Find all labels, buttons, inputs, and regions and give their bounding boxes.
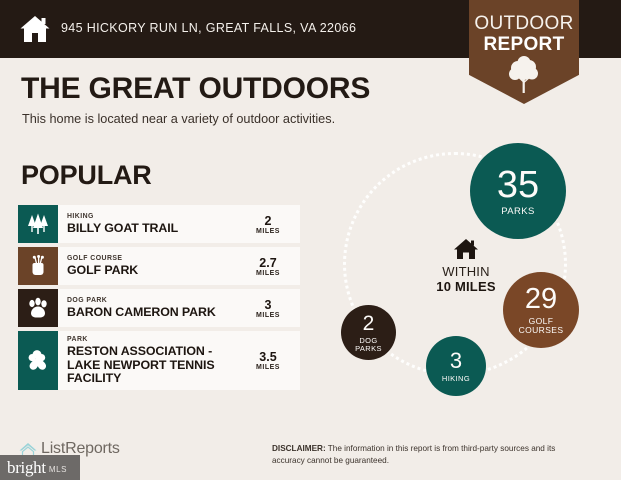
outdoor-report-page: 945 HICKORY RUN LN, GREAT FALLS, VA 2206… [0,0,621,480]
bright-mls-watermark: bright MLS [0,455,80,480]
list-item[interactable]: PARK RESTON ASSOCIATION - LAKE NEWPORT T… [18,331,300,390]
list-item[interactable]: HIKING BILLY GOAT TRAIL 2 MILES [18,205,300,243]
bubble-parks[interactable]: 35 PARKS [470,143,566,239]
badge-line-2: REPORT [469,34,579,56]
list-item[interactable]: GOLF COURSE GOLF PARK 2.7 MILES [18,247,300,285]
outdoor-report-badge: OUTDOOR REPORT [469,0,579,104]
house-icon [453,237,479,261]
bubble-golf-label: GOLF COURSES [519,317,564,335]
list-item[interactable]: DOG PARK BARON CAMERON PARK 3 MILES [18,289,300,327]
popular-places-list: HIKING BILLY GOAT TRAIL 2 MILES [18,205,300,394]
bubble-dog-parks[interactable]: 2 DOG PARKS [341,305,396,360]
list-item-icon-wrap [18,205,58,243]
bubble-dog-label-line2: PARKS [355,345,382,353]
list-item-distance: 2 MILES [240,205,300,243]
bright-mls-main: bright [0,458,46,478]
list-item-distance: 3 MILES [240,289,300,327]
list-item-body: DOG PARK BARON CAMERON PARK [58,289,240,327]
list-item-name: RESTON ASSOCIATION - LAKE NEWPORT TENNIS… [67,345,236,386]
list-item-distance: 3.5 MILES [240,331,300,390]
list-item-distance-unit: MILES [256,364,280,371]
bright-mls-sub: MLS [46,461,67,474]
disclaimer-label: DISCLAIMER: [272,444,326,453]
list-item-icon-wrap [18,247,58,285]
tree-icon [507,56,541,94]
list-item-distance-unit: MILES [256,312,280,319]
bubble-dog-value: 2 [363,313,375,334]
list-item-distance-value: 2.7 [259,256,276,270]
list-item-distance-value: 3.5 [259,350,276,364]
list-item-distance: 2.7 MILES [240,247,300,285]
paw-print-icon [26,297,50,320]
chart-center-line1: WITHIN [416,264,516,279]
chart-center-line2: 10 MILES [416,279,516,294]
bubble-parks-label: PARKS [501,207,535,217]
list-item-icon-wrap [18,289,58,327]
property-address: 945 HICKORY RUN LN, GREAT FALLS, VA 2206… [61,21,356,35]
bubble-hiking-label: HIKING [442,375,470,383]
bubble-hiking-value: 3 [450,350,462,372]
list-item-name: GOLF PARK [67,264,236,278]
trees-icon [26,213,50,235]
list-item-distance-value: 2 [265,214,272,228]
page-subtitle: This home is located near a variety of o… [22,112,335,126]
section-title-popular: POPULAR [21,160,152,191]
bubble-golf-value: 29 [525,285,557,314]
page-title: THE GREAT OUTDOORS [21,72,370,106]
badge-line-1: OUTDOOR [469,13,579,35]
chart-center-label: WITHIN 10 MILES [416,237,516,294]
list-item-icon-wrap [18,331,58,390]
house-icon [19,13,51,45]
list-item-distance-unit: MILES [256,270,280,277]
bubble-hiking[interactable]: 3 HIKING [426,336,486,396]
list-item-body: HIKING BILLY GOAT TRAIL [58,205,240,243]
bubble-parks-value: 35 [497,166,539,204]
disclaimer: DISCLAIMER: The information in this repo… [272,443,590,466]
within-10-miles-bubble-chart: 35 PARKS 29 GOLF COURSES 2 DOG PARKS 3 H… [330,140,621,405]
bubble-dog-label: DOG PARKS [355,337,382,353]
list-item-distance-unit: MILES [256,228,280,235]
list-item-body: PARK RESTON ASSOCIATION - LAKE NEWPORT T… [58,331,240,390]
list-item-body: GOLF COURSE GOLF PARK [58,247,240,285]
park-tree-icon [26,349,50,371]
list-item-name: BILLY GOAT TRAIL [67,222,236,236]
list-item-name: BARON CAMERON PARK [67,306,236,320]
list-item-distance-value: 3 [265,298,272,312]
bubble-golf-label-line2: COURSES [519,326,564,335]
golf-bag-icon [27,255,49,277]
